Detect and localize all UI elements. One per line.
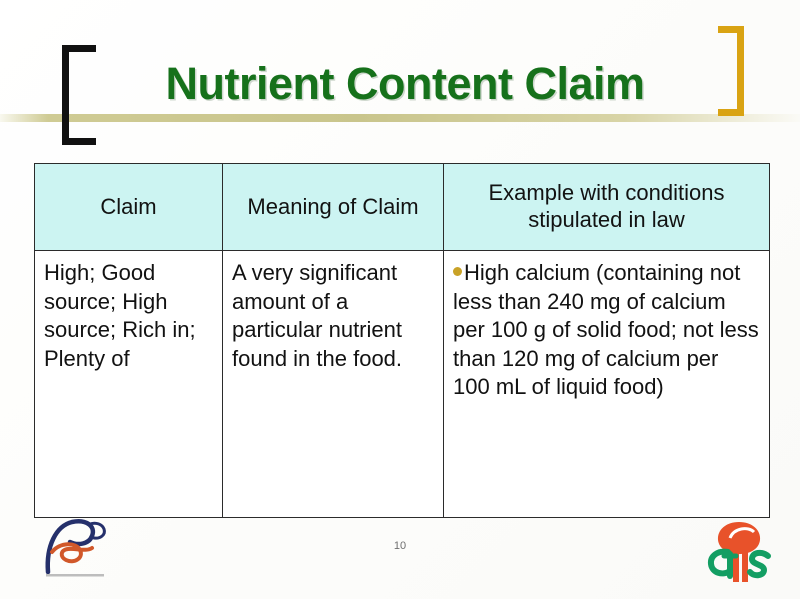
table-header-row: Claim Meaning of Claim Example with cond…	[35, 164, 770, 251]
table-row: High; Good source; High source; Rich in;…	[35, 251, 770, 518]
bullet-dot-icon	[453, 267, 462, 276]
column-header-meaning: Meaning of Claim	[223, 164, 444, 251]
nutrient-claim-table: Claim Meaning of Claim Example with cond…	[34, 163, 770, 518]
cell-claim-text: High; Good source; High source; Rich in;…	[44, 259, 213, 373]
cell-example-text: High calcium (containing not less than 2…	[453, 260, 759, 399]
presentation-slide: Nutrient Content Claim Claim Meaning of …	[0, 0, 800, 599]
title-band: Nutrient Content Claim	[0, 0, 800, 150]
example-bullet-line: High calcium (containing not less than 2…	[453, 260, 759, 399]
cell-meaning: A very significant amount of a particula…	[223, 251, 444, 518]
cfs-logo	[700, 516, 778, 586]
column-header-claim: Claim	[35, 164, 223, 251]
page-number: 10	[0, 540, 800, 552]
column-header-example: Example with conditions stipulated in la…	[444, 164, 770, 251]
fe-logo	[30, 512, 120, 584]
gold-horizontal-rule	[0, 114, 800, 122]
page-title: Nutrient Content Claim	[110, 58, 700, 110]
cell-meaning-text: A very significant amount of a particula…	[232, 259, 434, 373]
cell-example: High calcium (containing not less than 2…	[444, 251, 770, 518]
right-bracket-decoration	[718, 26, 744, 116]
left-bracket-decoration	[62, 45, 96, 145]
cell-claim: High; Good source; High source; Rich in;…	[35, 251, 223, 518]
